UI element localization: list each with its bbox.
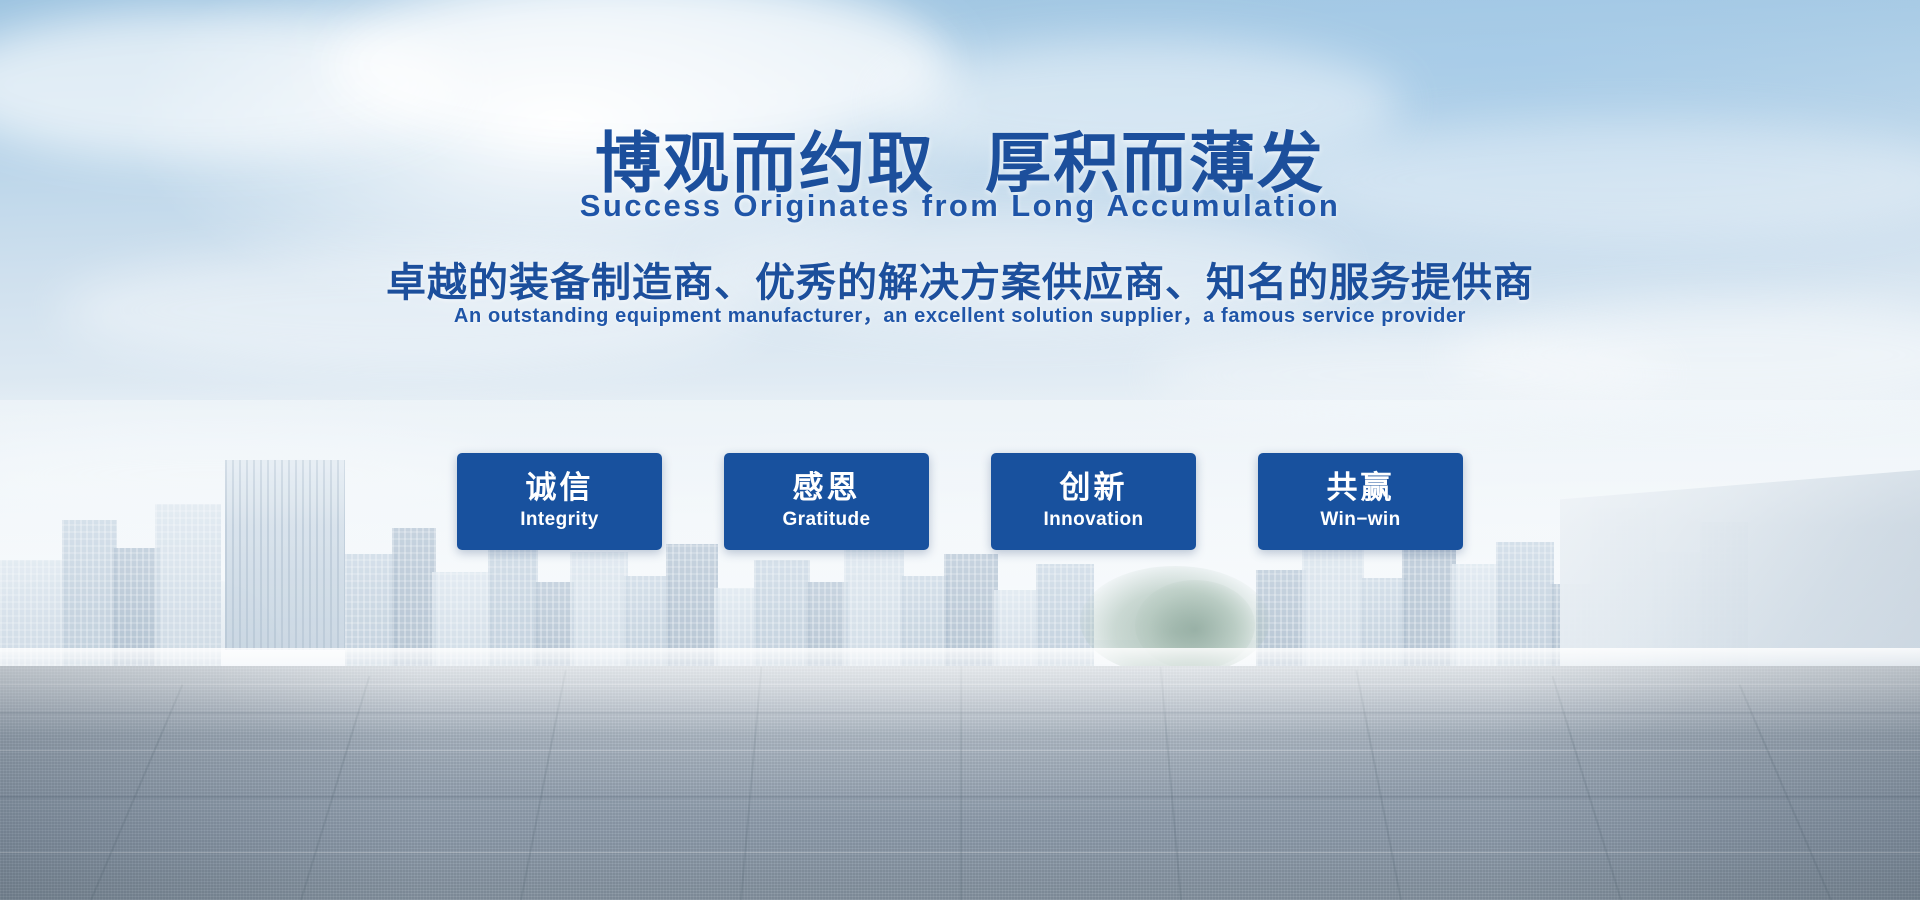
value-card-gratitude[interactable]: 感恩 Gratitude xyxy=(724,453,929,550)
value-label-english: Innovation xyxy=(1043,508,1143,532)
value-label-chinese: 感恩 xyxy=(793,471,861,506)
value-card-innovation[interactable]: 创新 Innovation xyxy=(991,453,1196,550)
value-card-winwin[interactable]: 共赢 Win−win xyxy=(1258,453,1463,550)
value-label-english: Integrity xyxy=(520,508,599,532)
banner-content: 博观而约取 厚积而薄发 Success Originates from Long… xyxy=(0,0,1920,900)
value-label-chinese: 诚信 xyxy=(526,471,594,506)
subheadline-english: An outstanding equipment manufacturer，an… xyxy=(0,299,1920,328)
value-label-english: Gratitude xyxy=(782,508,870,532)
headline-english: Success Originates from Long Accumulatio… xyxy=(0,188,1920,224)
value-label-chinese: 共赢 xyxy=(1327,471,1395,506)
core-values-row: 诚信 Integrity 感恩 Gratitude 创新 Innovation … xyxy=(0,453,1920,550)
value-label-chinese: 创新 xyxy=(1060,471,1128,506)
hero-banner: 博观而约取 厚积而薄发 Success Originates from Long… xyxy=(0,0,1920,900)
value-label-english: Win−win xyxy=(1320,508,1400,532)
value-card-integrity[interactable]: 诚信 Integrity xyxy=(457,453,662,550)
